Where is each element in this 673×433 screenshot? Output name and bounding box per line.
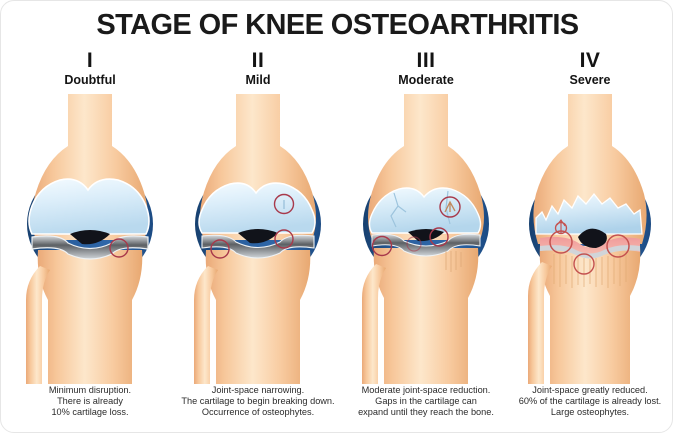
caption-line: Large osteophytes. <box>506 407 673 418</box>
caption-line: expand until they reach the bone. <box>342 407 510 418</box>
stage-panel-4: IV Severe <box>506 49 673 427</box>
stage-panel-1: I Doubtful <box>6 49 174 427</box>
caption-line: 10% cartilage loss. <box>6 407 174 418</box>
caption-line: Joint-space greatly reduced. <box>506 385 673 396</box>
stage-numeral-4: IV <box>506 49 673 72</box>
caption-line: Minimum disruption. <box>6 385 174 396</box>
knee-diagram-stage-4 <box>506 94 673 384</box>
stage-numeral-2: II <box>174 49 342 72</box>
knee-diagram-stage-1 <box>6 94 174 384</box>
caption-line: Gaps in the cartilage can <box>342 396 510 407</box>
stage-caption-1: Minimum disruption. There is already 10%… <box>6 385 174 417</box>
caption-line: Joint-space narrowing. <box>174 385 342 396</box>
caption-line: Moderate joint-space reduction. <box>342 385 510 396</box>
knee-diagram-stage-3 <box>342 94 510 384</box>
caption-line: The cartilage to begin breaking down. <box>174 396 342 407</box>
stage-panel-2: II Mild <box>174 49 342 427</box>
stage-name-2: Mild <box>174 73 342 88</box>
stage-caption-4: Joint-space greatly reduced. 60% of the … <box>506 385 673 417</box>
stage-caption-2: Joint-space narrowing. The cartilage to … <box>174 385 342 417</box>
stage-name-4: Severe <box>506 73 673 88</box>
knee-diagram-stage-2 <box>174 94 342 384</box>
caption-line: Occurrence of osteophytes. <box>174 407 342 418</box>
stage-numeral-3: III <box>342 49 510 72</box>
illustration-frame: STAGE OF KNEE OSTEOARTHRITIS I Doubtful <box>0 0 673 433</box>
stage-caption-3: Moderate joint-space reduction. Gaps in … <box>342 385 510 417</box>
stage-panel-3: III Moderate <box>342 49 510 427</box>
caption-line: 60% of the cartilage is already lost. <box>506 396 673 407</box>
stage-name-3: Moderate <box>342 73 510 88</box>
caption-line: There is already <box>6 396 174 407</box>
page-title: STAGE OF KNEE OSTEOARTHRITIS <box>1 9 673 42</box>
stage-name-1: Doubtful <box>6 73 174 88</box>
stage-numeral-1: I <box>6 49 174 72</box>
